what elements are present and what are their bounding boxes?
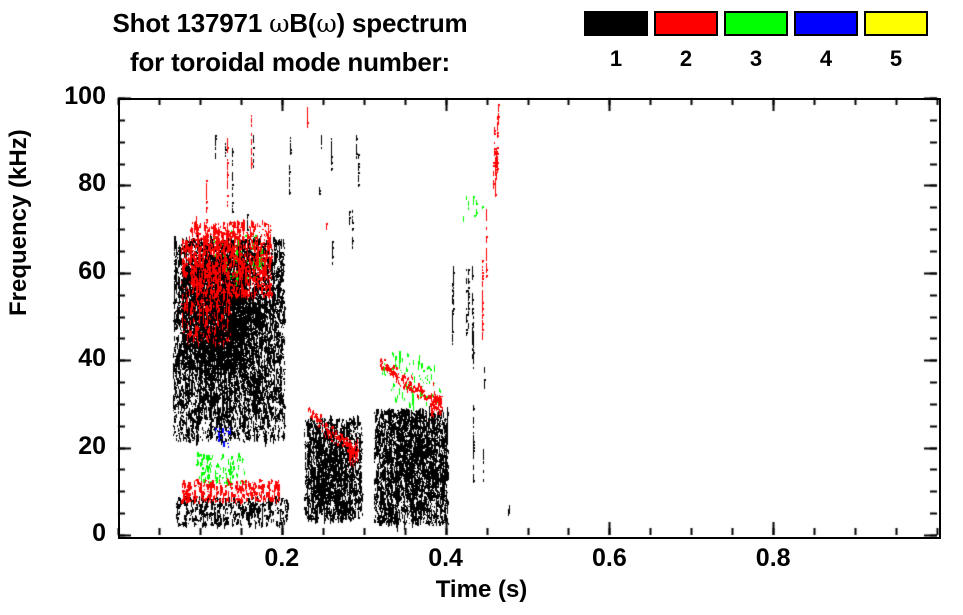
legend-swatch-1 xyxy=(584,11,648,36)
legend-swatch-3 xyxy=(724,11,788,36)
legend-item-4: 4 xyxy=(791,11,861,70)
y-tick-label-40: 40 xyxy=(78,344,106,373)
legend-label-5: 5 xyxy=(890,48,902,70)
y-axis-title: Frequency (kHz) xyxy=(5,129,33,316)
plot-area xyxy=(118,98,941,539)
legend-label-4: 4 xyxy=(820,48,832,70)
x-tick-label-0.4: 0.4 xyxy=(428,544,463,573)
figure-title: Shot 137971 ωB(ω) spectrum for toroidal … xyxy=(0,4,580,81)
legend-label-1: 1 xyxy=(610,48,622,70)
title-shot-text: Shot 137971 xyxy=(113,8,270,38)
x-tick-label-0.6: 0.6 xyxy=(592,544,627,573)
omega-symbol-1: ω xyxy=(269,9,289,38)
legend-swatch-2 xyxy=(654,11,718,36)
legend-item-2: 2 xyxy=(651,11,721,70)
spectrogram-figure: Shot 137971 ωB(ω) spectrum for toroidal … xyxy=(0,0,963,615)
y-tick-label-80: 80 xyxy=(78,169,106,198)
legend-item-5: 5 xyxy=(861,11,931,70)
legend-item-1: 1 xyxy=(581,11,651,70)
mode-number-legend: 12345 xyxy=(581,11,931,70)
title-line-1: Shot 137971 ωB(ω) spectrum xyxy=(0,4,580,43)
legend-swatch-5 xyxy=(864,11,928,36)
title-b-text: B( xyxy=(289,8,316,38)
legend-label-2: 2 xyxy=(680,48,692,70)
y-tick-label-20: 20 xyxy=(78,432,106,461)
legend-item-3: 3 xyxy=(721,11,791,70)
legend-swatch-4 xyxy=(794,11,858,36)
y-tick-label-100: 100 xyxy=(64,82,106,111)
legend-label-3: 3 xyxy=(750,48,762,70)
spectrogram-canvas xyxy=(120,100,939,537)
x-tick-label-0.8: 0.8 xyxy=(756,544,791,573)
x-axis-title: Time (s) xyxy=(0,576,963,604)
x-tick-label-0.2: 0.2 xyxy=(264,544,299,573)
title-line-2: for toroidal mode number: xyxy=(0,43,580,81)
y-tick-label-0: 0 xyxy=(92,519,106,548)
omega-symbol-2: ω xyxy=(316,9,336,38)
title-spectrum-text: ) spectrum xyxy=(337,8,468,38)
y-tick-label-60: 60 xyxy=(78,257,106,286)
